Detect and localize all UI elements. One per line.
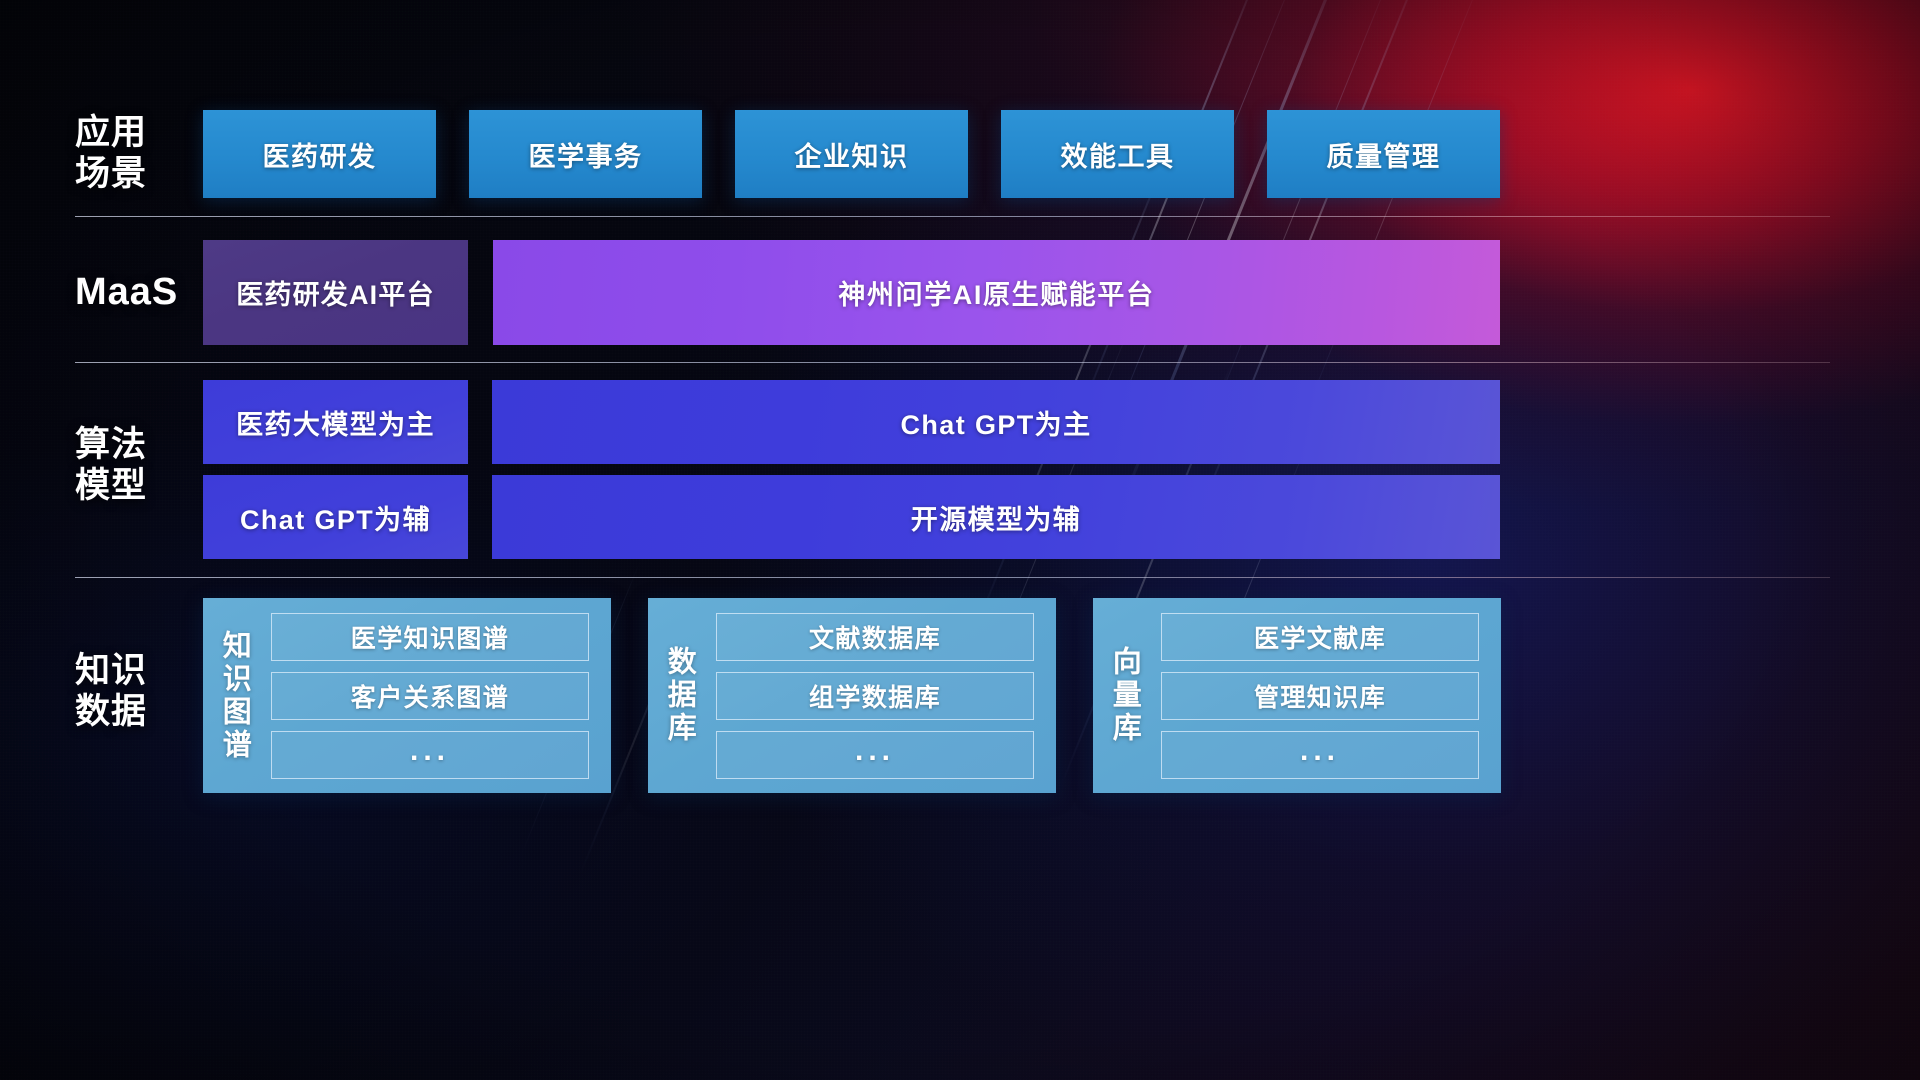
algo-card-medicine-llm-primary[interactable]: 医药大模型为主: [203, 380, 468, 464]
row-label-algorithm-model: 算法 模型: [75, 424, 205, 507]
knowledge-item[interactable]: 文献数据库: [716, 613, 1034, 661]
maas-card-label: 医药研发AI平台: [236, 273, 435, 312]
knowledge-panel-items: 医学知识图谱 客户关系图谱 ...: [265, 598, 611, 793]
knowledge-item-more[interactable]: ...: [716, 731, 1034, 779]
algo-card-chatgpt-primary[interactable]: Chat GPT为主: [492, 380, 1500, 464]
knowledge-panel-database[interactable]: 数据库 文献数据库 组学数据库 ...: [648, 598, 1056, 793]
app-card-label: 医药研发: [263, 135, 377, 174]
knowledge-item-more[interactable]: ...: [271, 731, 589, 779]
maas-card-label: 神州问学AI原生赋能平台: [838, 273, 1154, 312]
app-card-medical-affairs[interactable]: 医学事务: [469, 110, 702, 198]
app-card-quality-management[interactable]: 质量管理: [1267, 110, 1500, 198]
stack-rows: 应用 场景 医药研发 医学事务 企业知识 效能工具 质量管理 MaaS 医药研发…: [0, 0, 1920, 1080]
algo-card-opensource-secondary[interactable]: 开源模型为辅: [492, 475, 1500, 559]
app-card-label: 企业知识: [795, 135, 909, 174]
app-card-enterprise-knowledge[interactable]: 企业知识: [735, 110, 968, 198]
knowledge-panel-knowledge-graph[interactable]: 知识图谱 医学知识图谱 客户关系图谱 ...: [203, 598, 611, 793]
row-label-knowledge-data: 知识 数据: [75, 650, 205, 733]
divider-2: [75, 362, 1830, 363]
algo-card-chatgpt-secondary[interactable]: Chat GPT为辅: [203, 475, 468, 559]
knowledge-item[interactable]: 组学数据库: [716, 672, 1034, 720]
divider-1: [75, 216, 1830, 217]
knowledge-panel-vector-store[interactable]: 向量库 医学文献库 管理知识库 ...: [1093, 598, 1501, 793]
app-card-label: 医学事务: [529, 135, 643, 174]
maas-card-medicine-ai-platform[interactable]: 医药研发AI平台: [203, 240, 468, 345]
knowledge-panel-vertical-label: 向量库: [1093, 598, 1155, 793]
knowledge-panel-items: 文献数据库 组学数据库 ...: [710, 598, 1056, 793]
app-card-label: 质量管理: [1327, 135, 1441, 174]
knowledge-panel-items: 医学文献库 管理知识库 ...: [1155, 598, 1501, 793]
row-label-application-scenario: 应用 场景: [75, 112, 205, 195]
divider-3: [75, 577, 1830, 578]
app-card-efficiency-tools[interactable]: 效能工具: [1001, 110, 1234, 198]
algo-card-label: Chat GPT为辅: [240, 498, 431, 537]
app-card-label: 效能工具: [1061, 135, 1175, 174]
row-label-maas: MaaS: [75, 270, 205, 315]
app-card-medicine-rd[interactable]: 医药研发: [203, 110, 436, 198]
knowledge-item[interactable]: 医学知识图谱: [271, 613, 589, 661]
knowledge-item-more[interactable]: ...: [1161, 731, 1479, 779]
algo-card-label: 医药大模型为主: [236, 403, 435, 442]
algo-card-label: Chat GPT为主: [900, 403, 1091, 442]
knowledge-item[interactable]: 医学文献库: [1161, 613, 1479, 661]
algo-card-label: 开源模型为辅: [911, 498, 1081, 537]
architecture-diagram-canvas: 应用 场景 医药研发 医学事务 企业知识 效能工具 质量管理 MaaS 医药研发…: [0, 0, 1920, 1080]
knowledge-panel-vertical-label: 知识图谱: [203, 598, 265, 793]
knowledge-item[interactable]: 客户关系图谱: [271, 672, 589, 720]
knowledge-item[interactable]: 管理知识库: [1161, 672, 1479, 720]
knowledge-panel-vertical-label: 数据库: [648, 598, 710, 793]
maas-card-shenzhou-wenxue-platform[interactable]: 神州问学AI原生赋能平台: [493, 240, 1500, 345]
